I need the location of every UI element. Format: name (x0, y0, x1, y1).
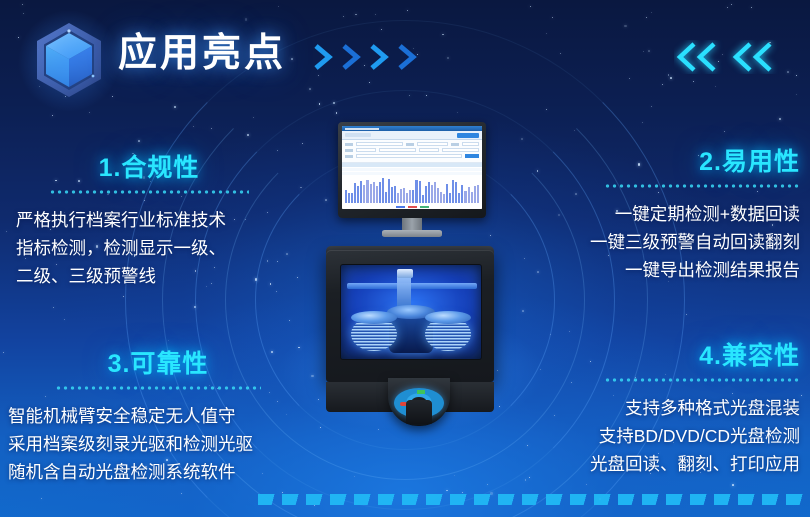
feature-1-divider (8, 190, 290, 196)
data-table-icon (342, 163, 482, 175)
robot-viewing-window (340, 264, 482, 360)
software-window-icon (342, 126, 482, 209)
feature-4-divider (510, 378, 800, 384)
feature-4-line-2: 支持BD/DVD/CD光盘检测 (510, 422, 800, 450)
feature-1-line-3: 二级、三级预警线 (8, 262, 290, 290)
feature-block-1: 1.合规性 严格执行档案行业标准技术 指标检测，检测显示一级、 二级、三级预警线 (8, 152, 290, 290)
page-title: 应用亮点 (118, 30, 286, 78)
feature-1-line-1: 严格执行档案行业标准技术 (8, 206, 290, 234)
disc-robot-device-image (316, 122, 504, 432)
chevron-double-right-icon (312, 42, 430, 72)
disc-tray-icon (388, 378, 450, 426)
feature-4-line-1: 支持多种格式光盘混装 (510, 394, 800, 422)
feature-2-line-1: 一键定期检测+数据回读 (510, 200, 800, 228)
cube-logo-icon (30, 20, 108, 100)
feature-4-line-3: 光盘回读、翻刻、打印应用 (510, 450, 800, 478)
chevron-double-left-icon (674, 40, 782, 74)
monitor-icon (338, 122, 486, 240)
feature-2-line-2: 一键三级预警自动回读翻刻 (510, 228, 800, 256)
feature-block-3: 3.可靠性 智能机械臂安全稳定无人值守 采用档案级刻录光驱和检测光驱 随机含自动… (8, 348, 308, 486)
feature-2-divider (510, 184, 800, 190)
bottom-dashed-line-decoration (258, 494, 810, 505)
bar-chart-icon (342, 175, 482, 204)
feature-3-line-1: 智能机械臂安全稳定无人值守 (8, 402, 308, 430)
feature-2-title: 2.易用性 (510, 146, 800, 178)
disc-robot-tower-icon (316, 240, 504, 416)
slide-root: 应用亮点 1.合规性 (0, 0, 810, 517)
feature-4-title: 4.兼容性 (510, 340, 800, 372)
feature-2-line-3: 一键导出检测结果报告 (510, 256, 800, 284)
feature-3-line-3: 随机含自动光盘检测系统软件 (8, 458, 308, 486)
feature-1-line-2: 指标检测，检测显示一级、 (8, 234, 290, 262)
feature-3-title: 3.可靠性 (8, 348, 308, 380)
feature-1-title: 1.合规性 (8, 152, 290, 184)
slide-header: 应用亮点 (0, 0, 810, 106)
feature-block-4: 4.兼容性 支持多种格式光盘混装 支持BD/DVD/CD光盘检测 光盘回读、翻刻… (510, 340, 800, 478)
feature-block-2: 2.易用性 一键定期检测+数据回读 一键三级预警自动回读翻刻 一键导出检测结果报… (510, 146, 800, 284)
feature-3-line-2: 采用档案级刻录光驱和检测光驱 (8, 430, 308, 458)
feature-3-divider (8, 386, 308, 392)
